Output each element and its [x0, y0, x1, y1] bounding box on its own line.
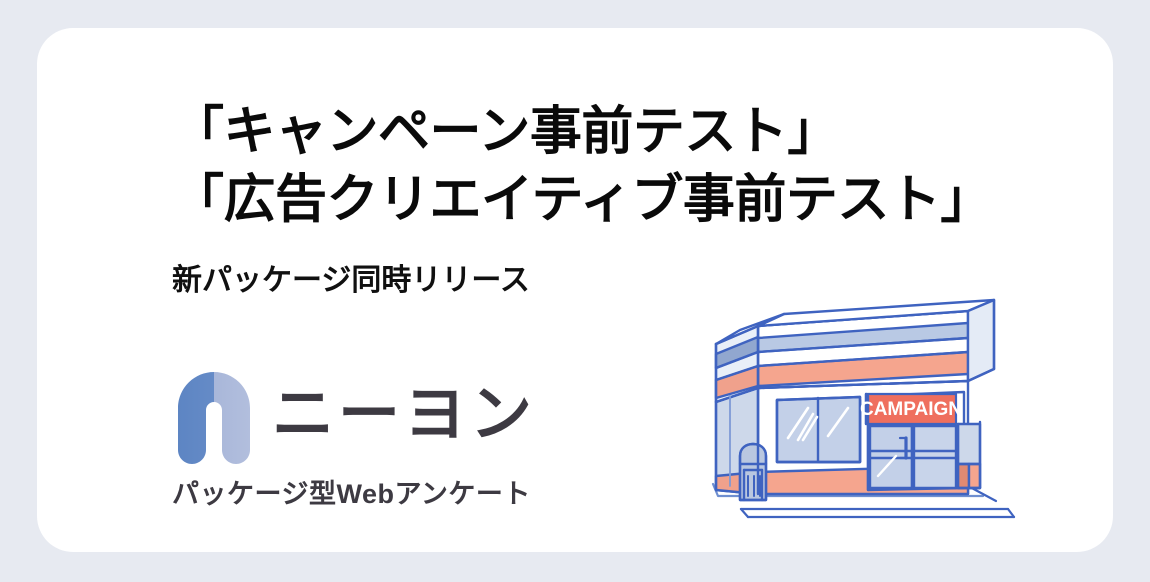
logo-tagline: パッケージ型Webアンケート	[172, 472, 531, 511]
arch-n-mark-icon	[178, 372, 250, 464]
display-window-group	[777, 397, 860, 462]
page-subtitle: 新パッケージ同時リリース	[172, 255, 530, 299]
page-root: 「キャンペーン事前テスト」 「広告クリエイティブ事前テスト」 新パッケージ同時リ…	[0, 0, 1150, 582]
entrance-doors	[870, 426, 956, 488]
logo-wordmark: ニーヨン	[272, 372, 536, 458]
convenience-store-illustration: CAMPAIGN	[678, 296, 1028, 550]
right-pillar	[958, 422, 980, 488]
roof-fascia-side	[716, 326, 758, 402]
headline-line-2: 「広告クリエイティブ事前テスト」	[172, 166, 992, 234]
campaign-sign-text: CAMPAIGN	[860, 399, 962, 420]
trash-bin	[740, 444, 766, 500]
headline-line-1: 「キャンペーン事前テスト」	[172, 98, 992, 166]
page-title: 「キャンペーン事前テスト」 「広告クリエイティブ事前テスト」	[172, 98, 992, 234]
